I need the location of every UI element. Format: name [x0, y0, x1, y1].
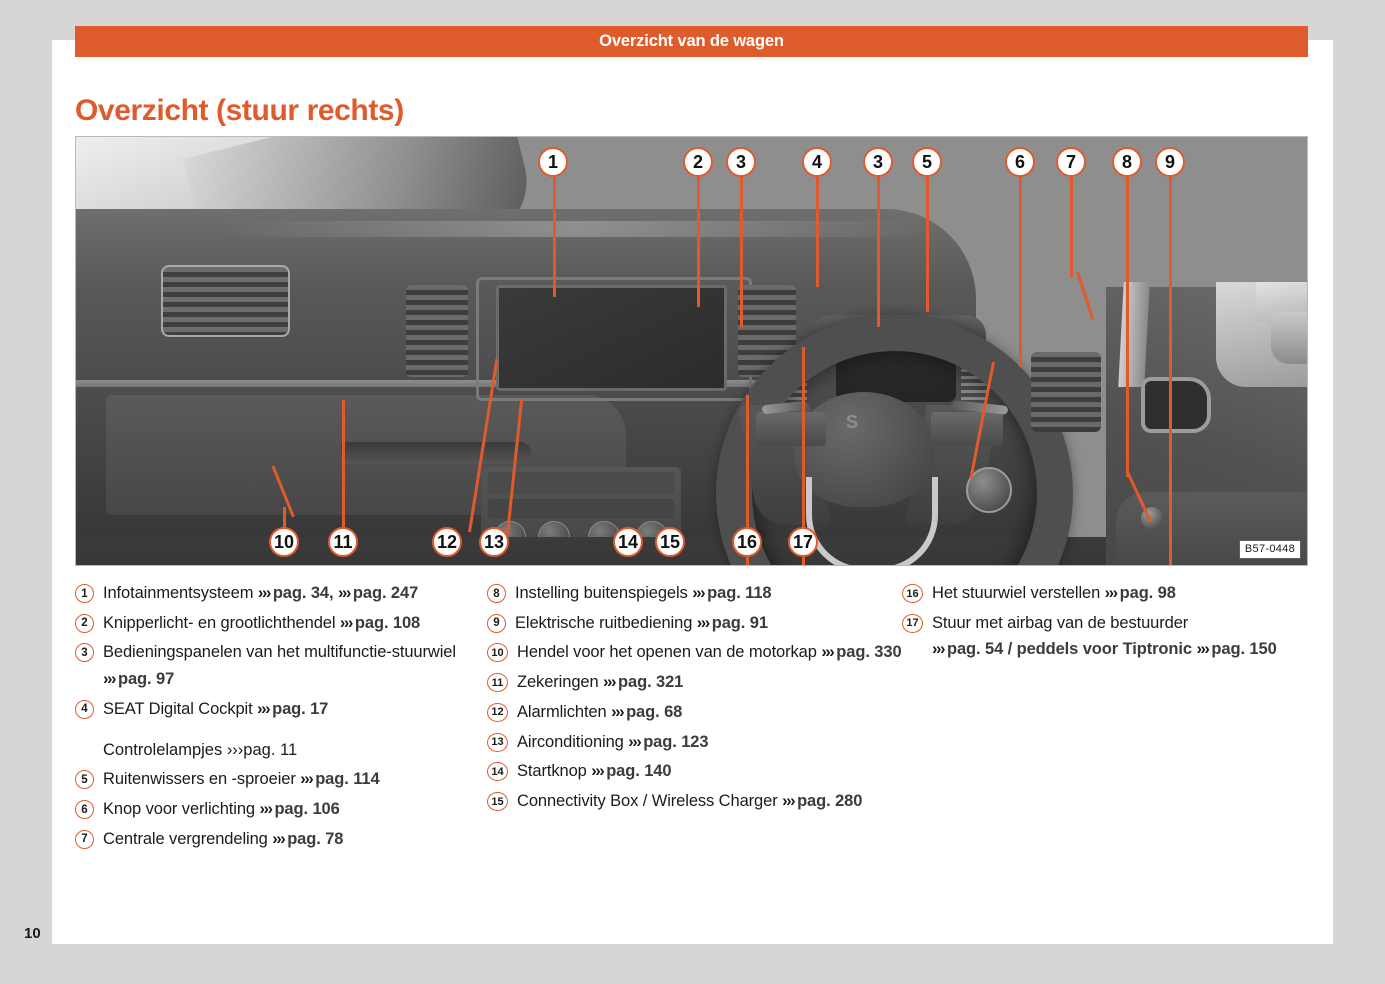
callout-marker-1[interactable]: 1	[538, 147, 568, 177]
callout-marker-16[interactable]: 16	[732, 527, 762, 557]
legend-item[interactable]: 4SEAT Digital Cockpit ›››pag. 17Controle…	[75, 696, 487, 763]
legend-item-text: Elektrische ruitbediening ›››pag. 91	[515, 610, 768, 637]
page-ref-chevron-icon: ›››	[1196, 640, 1211, 658]
callout-marker-3a[interactable]: 3	[726, 147, 756, 177]
legend-badge: 1	[75, 584, 94, 603]
page-ref-chevron-icon: ›››	[257, 700, 272, 718]
leader-line-3b	[877, 177, 880, 327]
seat-logo: S	[846, 412, 886, 432]
page-ref-chevron-icon: ›››	[340, 614, 355, 632]
legend-item-body: Elektrische ruitbediening ›››pag. 91	[515, 610, 768, 637]
legend-item[interactable]: 8Instelling buitenspiegels ›››pag. 118	[487, 580, 902, 607]
page-reference-link[interactable]: pag. 78	[287, 830, 343, 848]
legend-item[interactable]: 12Alarmlichten ›››pag. 68	[487, 699, 902, 726]
running-header-title: Overzicht van de wagen	[599, 32, 784, 51]
legend-item-text: Connectivity Box / Wireless Charger ›››p…	[517, 788, 862, 815]
callout-marker-7[interactable]: 7	[1056, 147, 1086, 177]
legend-label: Knipperlicht- en grootlichthendel	[103, 614, 340, 632]
legend-item[interactable]: 2Knipperlicht- en grootlichthendel ›››pa…	[75, 610, 487, 637]
legend-item-body: Bedieningspanelen van het multifunctie-s…	[103, 639, 487, 692]
legend-label: Knop voor verlichting	[103, 800, 259, 818]
callout-marker-15[interactable]: 15	[655, 527, 685, 557]
page-ref-chevron-icon: ›››	[338, 584, 353, 602]
legend-item-body: Alarmlichten ›››pag. 68	[517, 699, 682, 726]
page-ref-chevron-icon: ›››	[628, 733, 643, 751]
page-ref-chevron-icon: ›››	[821, 643, 836, 661]
leader-line-5	[926, 177, 929, 312]
callout-marker-12[interactable]: 12	[432, 527, 462, 557]
callout-marker-17[interactable]: 17	[788, 527, 818, 557]
legend-item[interactable]: 3Bedieningspanelen van het multifunctie-…	[75, 639, 487, 692]
door-pillar	[1118, 282, 1150, 387]
legend-item-body: Airconditioning ›››pag. 123	[517, 729, 708, 756]
legend-item[interactable]: 15Connectivity Box / Wireless Charger ››…	[487, 788, 902, 815]
legend-item[interactable]: 6Knop voor verlichting ›››pag. 106	[75, 796, 487, 823]
legend-item-body: Ruitenwissers en -sproeier ›››pag. 114	[103, 766, 380, 793]
legend-badge: 10	[487, 643, 508, 662]
legend-item-body: Connectivity Box / Wireless Charger ›››p…	[517, 788, 862, 815]
legend-item-body: Knop voor verlichting ›››pag. 106	[103, 796, 340, 823]
legend-item[interactable]: 7Centrale vergrendeling ›››pag. 78	[75, 826, 487, 853]
legend-label: Het stuurwiel verstellen	[932, 584, 1105, 602]
legend-item-body: Instelling buitenspiegels ›››pag. 118	[515, 580, 772, 607]
legend-item-body: Startknop ›››pag. 140	[517, 758, 671, 785]
air-vent-left	[161, 265, 290, 337]
legend-badge: 13	[487, 733, 508, 752]
legend-label: Hendel voor het openen van de motorkap	[517, 643, 821, 661]
legend-item[interactable]: 10Hendel voor het openen van de motorkap…	[487, 639, 902, 666]
legend-badge: 12	[487, 703, 508, 722]
legend-badge: 3	[75, 643, 94, 662]
legend-item-body: Stuur met airbag van de bestuurder ›››pa…	[932, 610, 1310, 663]
page-ref-chevron-icon: ›››	[272, 830, 287, 848]
page-ref-chevron-icon: ›››	[103, 670, 118, 688]
page-ref-chevron-icon: ›››	[603, 673, 618, 691]
page-ref-chevron-icon: ›››	[300, 770, 315, 788]
callout-marker-4[interactable]: 4	[802, 147, 832, 177]
dashboard-photo: S	[76, 137, 1307, 565]
legend-badge: 11	[487, 673, 508, 692]
legend-label: Startknop	[517, 762, 591, 780]
page-ref-chevron-icon: ›››	[227, 741, 243, 759]
page-reference-link[interactable]: pag. 17	[272, 700, 328, 718]
legend-label: Centrale vergrendeling	[103, 830, 272, 848]
callout-marker-5[interactable]: 5	[912, 147, 942, 177]
legend-item[interactable]: 17Stuur met airbag van de bestuurder ›››…	[902, 610, 1310, 663]
legend-badge: 17	[902, 614, 923, 633]
running-header-bar: Overzicht van de wagen	[75, 26, 1308, 57]
air-vent-right	[1031, 352, 1101, 432]
legend-item-text: SEAT Digital Cockpit ›››pag. 17	[103, 696, 328, 723]
page-reference-link[interactable]: pag. 150	[1211, 640, 1276, 658]
page-reference-link[interactable]: pag. 140	[606, 762, 671, 780]
page-ref-chevron-icon: ›››	[692, 584, 707, 602]
legend-item-subline: Controlelampjes ›››pag. 11	[103, 737, 328, 764]
callout-marker-2[interactable]: 2	[683, 147, 713, 177]
legend-item-text: Instelling buitenspiegels ›››pag. 118	[515, 580, 772, 607]
callout-marker-8[interactable]: 8	[1112, 147, 1142, 177]
page-reference-link[interactable]: pag. 330	[836, 643, 901, 661]
page-root: 10 Overzicht van de wagen Overzicht (stu…	[0, 0, 1385, 984]
legend-item[interactable]: 1Infotainmentsysteem ›››pag. 34, ›››pag.…	[75, 580, 487, 607]
page-reference-link[interactable]: pag. 247	[353, 584, 418, 602]
air-vent-center-left	[406, 285, 468, 377]
legend-item-body: Infotainmentsysteem ›››pag. 34, ›››pag. …	[103, 580, 418, 607]
callout-marker-13[interactable]: 13	[479, 527, 509, 557]
legend-label: Ruitenwissers en -sproeier	[103, 770, 300, 788]
legend-column-3: 16Het stuurwiel verstellen ›››pag. 9817S…	[902, 580, 1310, 855]
leader-line-6-upper	[1019, 177, 1022, 367]
leader-line-2	[697, 177, 700, 307]
callout-marker-10[interactable]: 10	[269, 527, 299, 557]
page-ref-chevron-icon: ›››	[697, 614, 712, 632]
infotainment-screen	[496, 285, 727, 391]
leader-line-9-upper	[1169, 177, 1172, 566]
legend-badge: 14	[487, 762, 508, 781]
leader-line-8-upper	[1126, 177, 1129, 477]
page-ref-chevron-icon: ›››	[259, 800, 274, 818]
page-ref-chevron-icon: ›››	[1105, 584, 1120, 602]
page-reference-link[interactable]: pag. 106	[274, 800, 339, 818]
dashboard-highlight	[226, 221, 926, 237]
multifunction-buttons-left	[756, 412, 826, 446]
dashboard-figure: S	[75, 136, 1308, 566]
legend-item-text: Infotainmentsysteem ›››pag. 34, ›››pag. …	[103, 580, 418, 607]
page-reference-link[interactable]: pag. 11	[243, 741, 297, 759]
page-reference-link[interactable]: pag. 118	[707, 584, 771, 602]
climate-display-row	[488, 499, 674, 519]
page-reference-link[interactable]: pag. 280	[797, 792, 862, 810]
multifunction-buttons-right	[931, 412, 1003, 446]
page-ref-chevron-icon: ›››	[258, 584, 273, 602]
legend-label: Zekeringen	[517, 673, 603, 691]
legend-item[interactable]: 9Elektrische ruitbediening ›››pag. 91	[487, 610, 902, 637]
callout-marker-3b[interactable]: 3	[863, 147, 893, 177]
legend-badge: 8	[487, 584, 506, 603]
legend-item[interactable]: 14Startknop ›››pag. 140	[487, 758, 902, 785]
page-reference-link[interactable]: pag. 97	[118, 670, 174, 688]
legend-badge: 7	[75, 830, 94, 849]
legend-badge: 2	[75, 614, 94, 633]
hazard-light-row	[488, 472, 674, 494]
page-ref-chevron-icon: ›››	[932, 640, 947, 658]
legend-item-text: Airconditioning ›››pag. 123	[517, 729, 708, 756]
legend-badge: 15	[487, 792, 508, 811]
page-reference-link[interactable]: pag. 98	[1120, 584, 1176, 602]
legend-badge: 5	[75, 770, 94, 789]
glovebox-handle	[341, 442, 531, 464]
legend-item-body: SEAT Digital Cockpit ›››pag. 17Controlel…	[103, 696, 328, 763]
leader-line-11	[342, 400, 345, 533]
figure-code: B57-0448	[1239, 540, 1301, 559]
legend-badge: 16	[902, 584, 923, 603]
page-reference-link[interactable]: pag. 91	[712, 614, 768, 632]
legend-item-body: Zekeringen ›››pag. 321	[517, 669, 683, 696]
legend-sublabel: Controlelampjes	[103, 741, 227, 759]
legend-label: Stuur met airbag van de bestuurder	[932, 614, 1188, 632]
legend-label: Infotainmentsysteem	[103, 584, 258, 602]
leader-line-4	[816, 177, 819, 287]
legend-item-text: Centrale vergrendeling ›››pag. 78	[103, 826, 343, 853]
legend-item-text: Startknop ›››pag. 140	[517, 758, 671, 785]
page-title: Overzicht (stuur rechts)	[75, 94, 404, 128]
legend-label: Alarmlichten	[517, 703, 611, 721]
legend-item[interactable]: 16Het stuurwiel verstellen ›››pag. 98	[902, 580, 1310, 607]
legend-badge: 4	[75, 700, 94, 719]
page-reference-link[interactable]: pag. 114	[315, 770, 379, 788]
legend-label: Elektrische ruitbediening	[515, 614, 697, 632]
page-reference-link[interactable]: pag. 34,	[273, 584, 334, 602]
callout-marker-14[interactable]: 14	[613, 527, 643, 557]
callout-marker-11[interactable]: 11	[328, 527, 358, 557]
legend-label: Connectivity Box / Wireless Charger	[517, 792, 782, 810]
side-mirror	[1271, 312, 1308, 364]
legend-item-text: Zekeringen ›››pag. 321	[517, 669, 683, 696]
legend-item[interactable]: 11Zekeringen ›››pag. 321	[487, 669, 902, 696]
page-reference-link[interactable]: pag. 321	[618, 673, 683, 691]
legend-item-text: Knipperlicht- en grootlichthendel ›››pag…	[103, 610, 420, 637]
legend-item-body: Hendel voor het openen van de motorkap ›…	[517, 639, 902, 666]
legend-item-body: Centrale vergrendeling ›››pag. 78	[103, 826, 343, 853]
page-reference-link[interactable]: pag. 123	[643, 733, 708, 751]
legend-label: Bedieningspanelen van het multifunctie-s…	[103, 643, 456, 661]
page-reference-link[interactable]: pag. 108	[355, 614, 420, 632]
callout-marker-9[interactable]: 9	[1155, 147, 1185, 177]
page-reference-link[interactable]: pag. 68	[626, 703, 682, 721]
legend-item-text: Stuur met airbag van de bestuurder ›››pa…	[932, 610, 1310, 663]
legend-item-text: Alarmlichten ›››pag. 68	[517, 699, 682, 726]
legend-item[interactable]: 13Airconditioning ›››pag. 123	[487, 729, 902, 756]
page-reference-link[interactable]: pag. 54 / peddels voor Tiptronic	[947, 640, 1192, 658]
legend-label: SEAT Digital Cockpit	[103, 700, 257, 718]
page-number: 10	[24, 925, 41, 942]
legend-item-text: Hendel voor het openen van de motorkap ›…	[517, 639, 902, 666]
legend: 1Infotainmentsysteem ›››pag. 34, ›››pag.…	[75, 580, 1310, 855]
legend-badge: 9	[487, 614, 506, 633]
legend-item-body: Knipperlicht- en grootlichthendel ›››pag…	[103, 610, 420, 637]
callout-marker-6[interactable]: 6	[1005, 147, 1035, 177]
door-inner-handle	[1141, 377, 1211, 433]
legend-column-1: 1Infotainmentsysteem ›››pag. 34, ›››pag.…	[75, 580, 487, 855]
legend-label: Airconditioning	[517, 733, 628, 751]
leader-line-3a	[740, 177, 743, 327]
leader-line-1	[553, 177, 556, 297]
steering-wheel-chrome-v	[806, 477, 938, 566]
legend-item-body: Het stuurwiel verstellen ›››pag. 98	[932, 580, 1176, 607]
page-ref-chevron-icon: ›››	[782, 792, 797, 810]
page-ref-chevron-icon: ›››	[611, 703, 626, 721]
leader-line-7-upper	[1070, 177, 1073, 277]
legend-item[interactable]: 5Ruitenwissers en -sproeier ›››pag. 114	[75, 766, 487, 793]
legend-item-text: Bedieningspanelen van het multifunctie-s…	[103, 639, 487, 692]
legend-column-2: 8Instelling buitenspiegels ›››pag. 1189E…	[487, 580, 902, 855]
legend-item-text: Knop voor verlichting ›››pag. 106	[103, 796, 340, 823]
legend-label: Instelling buitenspiegels	[515, 584, 692, 602]
legend-item-text: Ruitenwissers en -sproeier ›››pag. 114	[103, 766, 380, 793]
legend-item-text: Het stuurwiel verstellen ›››pag. 98	[932, 580, 1176, 607]
legend-badge: 6	[75, 800, 94, 819]
page-ref-chevron-icon: ›››	[591, 762, 606, 780]
